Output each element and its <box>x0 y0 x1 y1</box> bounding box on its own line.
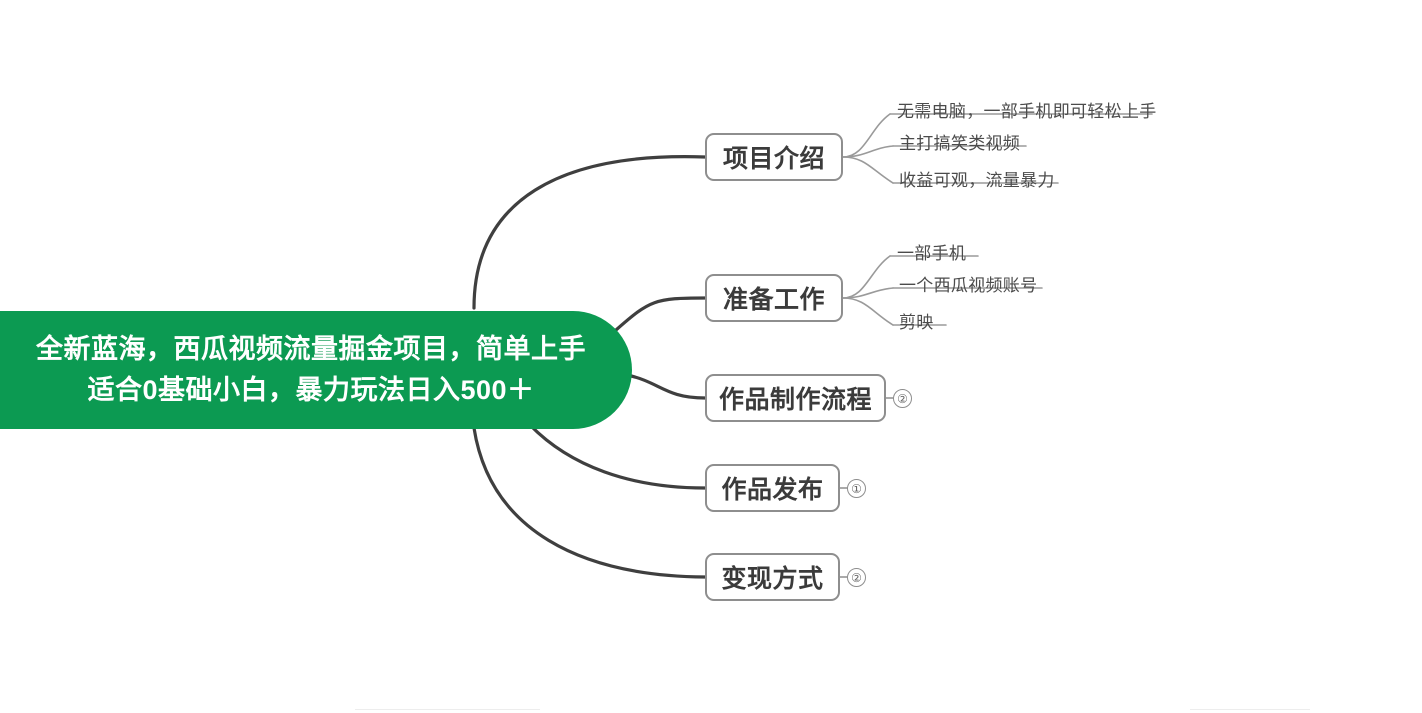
branch-label: 作品发布 <box>721 470 823 506</box>
edge-root-to-branch-5 <box>474 428 705 577</box>
root-line-1: 全新蓝海，西瓜视频流量掘金项目，简单上手 <box>16 329 606 370</box>
root-node-text: 全新蓝海，西瓜视频流量掘金项目，简单上手 适合0基础小白，暴力玩法日入500＋ <box>0 329 606 411</box>
branch-label: 变现方式 <box>721 559 823 595</box>
collapsed-count-badge-monetization[interactable]: ② <box>847 568 866 587</box>
bottom-edge-strip-left <box>355 709 540 710</box>
branch-node-production-process[interactable]: 作品制作流程 <box>705 374 886 422</box>
edge-branch-1-fan-3 <box>843 157 893 183</box>
branch-node-publish[interactable]: 作品发布 <box>705 464 840 512</box>
edge-branch-2-fan-1 <box>843 256 890 298</box>
root-node[interactable]: 全新蓝海，西瓜视频流量掘金项目，简单上手 适合0基础小白，暴力玩法日入500＋ <box>0 311 632 429</box>
branch-label: 准备工作 <box>723 280 825 316</box>
badge-value: ② <box>897 392 908 406</box>
collapsed-count-badge-publish[interactable]: ① <box>847 479 866 498</box>
edge-branch-1-fan-2 <box>843 146 893 157</box>
branch-node-project-intro[interactable]: 项目介绍 <box>705 133 843 181</box>
branch-node-monetization[interactable]: 变现方式 <box>705 553 840 601</box>
leaf-label-comedy-videos[interactable]: 主打搞笑类视频 <box>899 129 1020 154</box>
badge-value: ① <box>851 482 862 496</box>
edge-root-to-branch-2 <box>616 298 705 330</box>
leaf-label-good-income[interactable]: 收益可观，流量暴力 <box>899 166 1055 191</box>
edge-branch-1-fan-1 <box>843 114 890 157</box>
leaf-label-no-computer-needed[interactable]: 无需电脑，一部手机即可轻松上手 <box>897 97 1157 122</box>
root-line-2: 适合0基础小白，暴力玩法日入500＋ <box>16 370 606 411</box>
collapsed-count-badge-production-process[interactable]: ② <box>893 389 912 408</box>
leaf-label-one-phone[interactable]: 一部手机 <box>897 239 966 264</box>
edge-root-to-branch-3 <box>627 375 705 398</box>
edge-branch-2-fan-3 <box>843 298 893 325</box>
branch-label: 项目介绍 <box>723 139 825 175</box>
mindmap-canvas[interactable]: 全新蓝海，西瓜视频流量掘金项目，简单上手 适合0基础小白，暴力玩法日入500＋ … <box>0 0 1422 713</box>
branch-label: 作品制作流程 <box>719 380 872 416</box>
badge-value: ② <box>851 571 862 585</box>
leaf-label-jianying[interactable]: 剪映 <box>899 308 934 333</box>
branch-node-preparation[interactable]: 准备工作 <box>705 274 843 322</box>
bottom-edge-strip-right <box>1190 709 1310 710</box>
edge-root-to-branch-1 <box>474 157 705 308</box>
leaf-label-xigua-account[interactable]: 一个西瓜视频账号 <box>899 271 1037 296</box>
edge-root-to-branch-4 <box>530 425 705 488</box>
edge-branch-2-fan-2 <box>843 288 893 298</box>
